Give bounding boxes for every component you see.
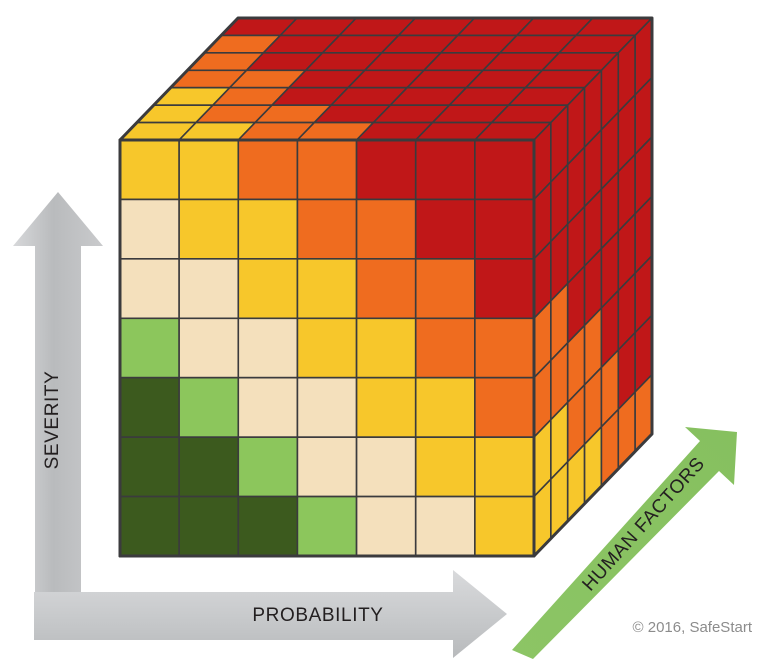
risk-cube	[120, 18, 652, 556]
cube-cell-front	[120, 497, 179, 556]
cube-cell-front	[297, 497, 356, 556]
cube-cell-front	[416, 318, 475, 377]
cube-cell-front	[475, 378, 534, 437]
cube-cell-front	[238, 318, 297, 377]
severity-axis-label: SEVERITY	[42, 371, 63, 470]
cube-cell-front	[475, 140, 534, 199]
cube-cell-front	[416, 497, 475, 556]
cube-cell-front	[120, 140, 179, 199]
cube-cell-front	[475, 497, 534, 556]
cube-cell-front	[416, 199, 475, 258]
probability-axis: PROBABILITY	[34, 570, 507, 658]
cube-cell-front	[179, 318, 238, 377]
cube-cell-front	[238, 259, 297, 318]
cube-cell-front	[357, 378, 416, 437]
cube-cell-front	[416, 378, 475, 437]
risk-cube-figure: SEVERITY PROBABILITY HUMAN FACTORS © 201…	[0, 0, 768, 665]
cube-cell-front	[120, 259, 179, 318]
cube-cell-front	[297, 199, 356, 258]
cube-cell-front	[120, 199, 179, 258]
cube-cell-front	[297, 318, 356, 377]
cube-cell-front	[179, 140, 238, 199]
cube-cell-front	[179, 199, 238, 258]
cube-cell-front	[416, 437, 475, 496]
copyright-label: © 2016, SafeStart	[633, 619, 753, 636]
cube-cell-front	[297, 259, 356, 318]
cube-cell-front	[475, 437, 534, 496]
severity-axis: SEVERITY	[13, 192, 103, 640]
cube-cell-front	[357, 199, 416, 258]
cube-front-face	[120, 140, 534, 556]
cube-cell-front	[357, 140, 416, 199]
cube-cell-front	[357, 259, 416, 318]
cube-cell-front	[416, 140, 475, 199]
cube-cell-front	[297, 378, 356, 437]
cube-cell-front	[120, 437, 179, 496]
probability-axis-label: PROBABILITY	[252, 605, 383, 626]
cube-cell-front	[357, 497, 416, 556]
cube-cell-front	[238, 140, 297, 199]
cube-cell-front	[416, 259, 475, 318]
cube-cell-front	[475, 259, 534, 318]
cube-cell-front	[120, 318, 179, 377]
cube-cell-front	[357, 437, 416, 496]
cube-cell-front	[238, 437, 297, 496]
cube-cell-front	[179, 378, 238, 437]
cube-cell-front	[238, 378, 297, 437]
risk-cube-svg: SEVERITY PROBABILITY HUMAN FACTORS © 201…	[0, 0, 768, 665]
cube-cell-front	[238, 199, 297, 258]
cube-cell-front	[179, 497, 238, 556]
cube-cell-front	[357, 318, 416, 377]
cube-cell-front	[475, 199, 534, 258]
cube-cell-front	[297, 437, 356, 496]
cube-cell-front	[297, 140, 356, 199]
cube-cell-front	[120, 378, 179, 437]
cube-cell-front	[179, 437, 238, 496]
cube-cell-front	[238, 497, 297, 556]
cube-cell-front	[179, 259, 238, 318]
cube-cell-front	[475, 318, 534, 377]
